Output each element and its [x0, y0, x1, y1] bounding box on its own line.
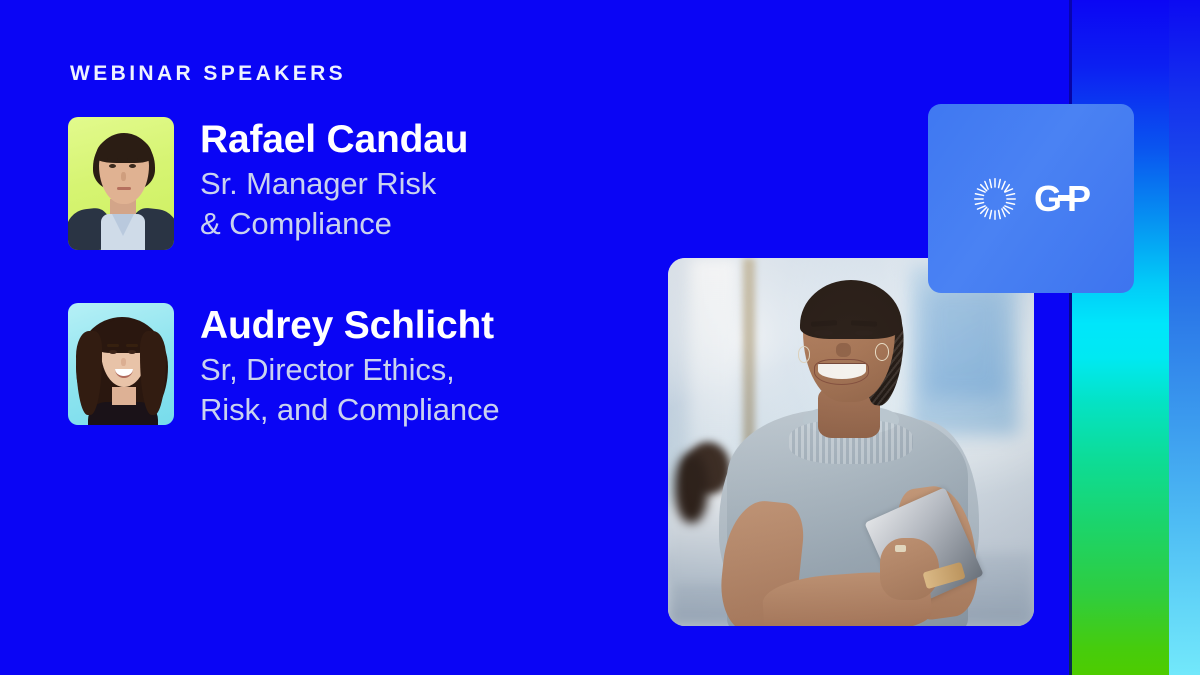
subject-eyebrow-right	[851, 320, 877, 326]
speaker-card-audrey-schlicht: Audrey Schlicht Sr, Director Ethics, Ris…	[68, 303, 500, 430]
speaker-name: Rafael Candau	[200, 119, 468, 160]
gp-wordmark: G P	[1034, 181, 1090, 217]
nose-shape	[121, 358, 126, 366]
hoop-earring-left	[798, 346, 810, 362]
collar-v-shape	[112, 214, 134, 236]
speaker-title: Sr, Director Ethics, Risk, and Complianc…	[200, 350, 500, 429]
page-title: WEBINAR SPEAKERS	[70, 63, 346, 84]
ring	[895, 545, 906, 552]
avatar	[68, 303, 174, 425]
avatar	[68, 117, 174, 250]
subject-nose	[836, 343, 851, 358]
window-left-shape	[690, 258, 738, 471]
eyebrow-left-shape	[107, 158, 118, 161]
eyebrow-left-shape	[107, 344, 119, 347]
sunburst-icon	[972, 176, 1018, 222]
eye-right-shape	[128, 350, 136, 354]
eye-left-shape	[109, 164, 116, 168]
main-gradient-strip	[1072, 0, 1169, 675]
brand-logo-card: G P	[928, 104, 1134, 293]
wordmark-p: P	[1067, 181, 1090, 217]
speaker-title: Sr. Manager Risk & Compliance	[200, 164, 468, 243]
background-coworker-hair	[675, 453, 708, 523]
eyebrow-right-shape	[126, 344, 138, 347]
speaker-meta: Audrey Schlicht Sr, Director Ethics, Ris…	[200, 303, 500, 430]
wordmark-g: G	[1034, 181, 1061, 217]
sky-shape	[924, 287, 1005, 397]
speaker-card-rafael-candau: Rafael Candau Sr. Manager Risk & Complia…	[68, 117, 468, 250]
eyebrow-right-shape	[127, 158, 138, 161]
subject-eye-right	[855, 330, 873, 336]
speaker-meta: Rafael Candau Sr. Manager Risk & Complia…	[200, 117, 468, 244]
neck-shape	[112, 387, 136, 405]
subject-eye-left	[814, 330, 832, 336]
hero-photo	[668, 258, 1034, 626]
right-edge-gradient-strip	[1168, 0, 1200, 675]
eye-right-shape	[129, 164, 136, 168]
nose-shape	[121, 172, 126, 181]
mouth-shape	[117, 187, 131, 190]
subject-hand	[880, 538, 939, 601]
webinar-speakers-slide: WEBINAR SPEAKERS Rafael Candau Sr. Manag…	[0, 0, 1200, 675]
speaker-name: Audrey Schlicht	[200, 305, 500, 346]
eye-left-shape	[109, 350, 117, 354]
